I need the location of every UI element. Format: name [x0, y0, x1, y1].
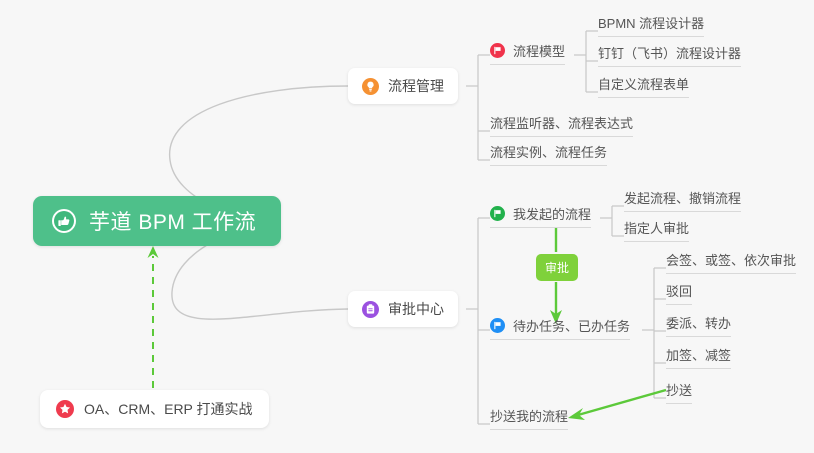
integration-note-node[interactable]: OA、CRM、ERP 打通实战: [40, 390, 269, 428]
node-process-model[interactable]: 流程模型: [490, 41, 565, 65]
branch-label-process-management: 流程管理: [388, 76, 444, 96]
root-label: 芋道 BPM 工作流: [89, 206, 256, 236]
leaf-cc-to-me[interactable]: 抄送我的流程: [490, 406, 568, 430]
leaf-start-cancel-process[interactable]: 发起流程、撤销流程: [624, 188, 741, 212]
leaf-instance-task[interactable]: 流程实例、流程任务: [490, 142, 607, 166]
integration-note-label: OA、CRM、ERP 打通实战: [84, 399, 253, 419]
leaf-carbon-copy[interactable]: 抄送: [666, 380, 692, 404]
leaf-custom-form[interactable]: 自定义流程表单: [598, 74, 689, 98]
leaf-listener-expression[interactable]: 流程监听器、流程表达式: [490, 113, 633, 137]
flag-green-icon: [490, 206, 505, 221]
leaf-delegate-transfer[interactable]: 委派、转办: [666, 313, 731, 337]
mindmap-canvas: 芋道 BPM 工作流 流程管理 流程模型 BPMN 流程设计器 钉钉（飞书）流程…: [0, 0, 814, 453]
node-todo-done-tasks[interactable]: 待办任务、已办任务: [490, 316, 630, 340]
arrow-note-to-root-head: [148, 246, 159, 258]
branch-label-approval-center: 审批中心: [388, 299, 444, 319]
lightbulb-icon: [362, 78, 379, 95]
leaf-countersign-modes[interactable]: 会签、或签、依次审批: [666, 250, 796, 274]
arrow-cc-to-ccmine-line: [578, 390, 666, 415]
branch-node-approval-center[interactable]: 审批中心: [348, 291, 458, 327]
node-my-initiated[interactable]: 我发起的流程: [490, 204, 591, 228]
root-node[interactable]: 芋道 BPM 工作流: [33, 196, 281, 246]
branch-node-process-management[interactable]: 流程管理: [348, 68, 458, 104]
node-label-process-model: 流程模型: [513, 41, 565, 60]
approval-badge[interactable]: 审批: [536, 254, 578, 281]
arrow-cc-to-ccmine-head: [568, 408, 585, 420]
star-icon: [56, 400, 74, 418]
leaf-bpmn-designer[interactable]: BPMN 流程设计器: [598, 13, 704, 37]
node-label-todo-done-tasks: 待办任务、已办任务: [513, 316, 630, 335]
leaf-assignee-approval[interactable]: 指定人审批: [624, 218, 689, 242]
leaf-dingtalk-feishu-designer[interactable]: 钉钉（飞书）流程设计器: [598, 43, 741, 67]
thumbs-up-icon: [51, 208, 77, 234]
node-label-my-initiated: 我发起的流程: [513, 204, 591, 223]
leaf-reject[interactable]: 驳回: [666, 281, 692, 305]
clipboard-icon: [362, 301, 379, 318]
flag-pink-icon: [490, 43, 505, 58]
flag-blue-icon: [490, 318, 505, 333]
leaf-add-remove-sign[interactable]: 加签、减签: [666, 345, 731, 369]
